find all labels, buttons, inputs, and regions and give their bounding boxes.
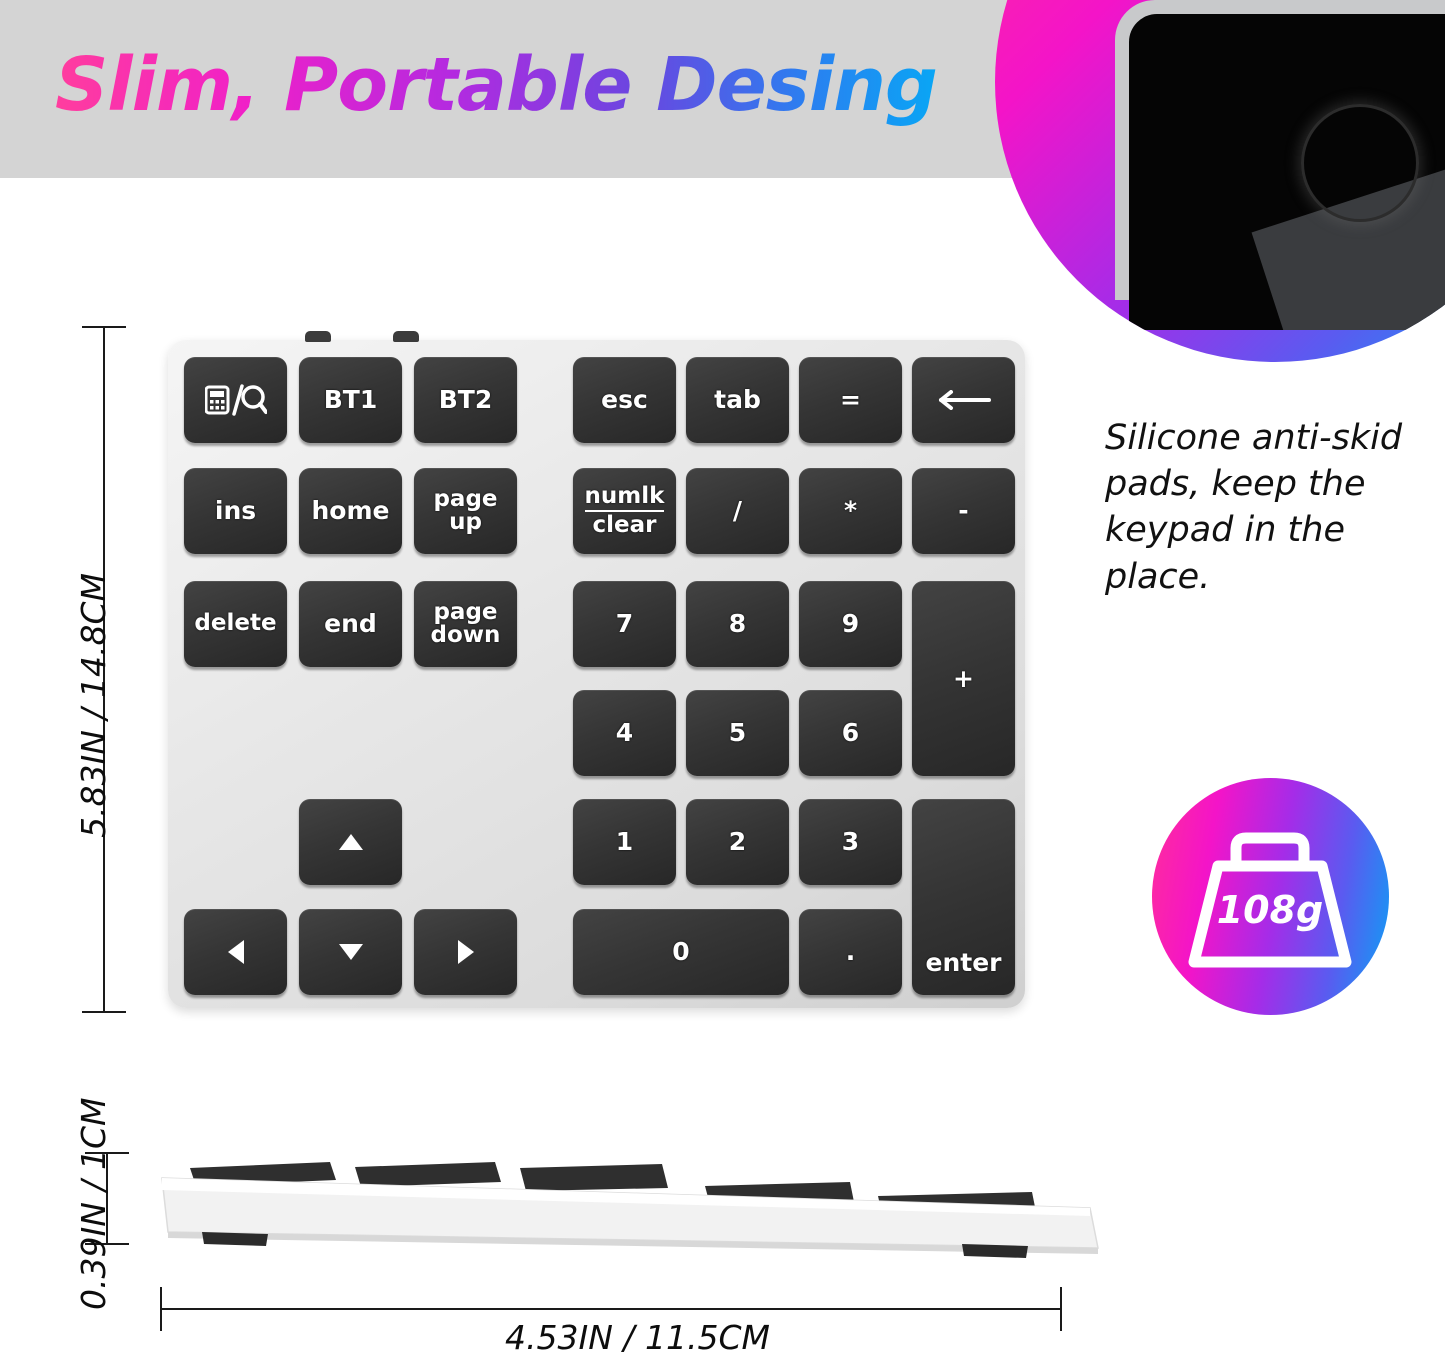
- key-tab[interactable]: tab: [686, 357, 789, 443]
- key-bt2[interactable]: BT2: [414, 357, 517, 443]
- key-calculator-search[interactable]: [184, 357, 287, 443]
- thickness-dimension-label: 0.39IN / 1CM: [74, 1097, 113, 1310]
- key-decimal[interactable]: .: [799, 909, 902, 995]
- key-arrow-down[interactable]: [299, 909, 402, 995]
- key-2[interactable]: 2: [686, 799, 789, 885]
- key-3[interactable]: 3: [799, 799, 902, 885]
- key-page-up[interactable]: pageup: [414, 468, 517, 554]
- key-arrow-right[interactable]: [414, 909, 517, 995]
- key-enter[interactable]: enter: [912, 799, 1015, 995]
- key-backspace[interactable]: [912, 357, 1015, 443]
- key-9[interactable]: 9: [799, 581, 902, 667]
- weight-value: 108g: [1180, 888, 1360, 932]
- weight-badge: 108g: [1152, 778, 1389, 1015]
- key-page-up-label: pageup: [433, 488, 497, 535]
- key-8[interactable]: 8: [686, 581, 789, 667]
- clear-text: clear: [585, 512, 665, 537]
- height-dimension-label: 5.83IN / 14.8CM: [74, 573, 113, 838]
- key-plus[interactable]: +: [912, 581, 1015, 776]
- key-7[interactable]: 7: [573, 581, 676, 667]
- page-title: Slim, Portable Desing: [55, 42, 937, 128]
- weight-icon: 108g: [1180, 826, 1360, 971]
- key-equals[interactable]: =: [799, 357, 902, 443]
- backspace-arrow-icon: [937, 390, 991, 410]
- key-esc[interactable]: esc: [573, 357, 676, 443]
- keypad-top-view: BT1 BT2 ins home pageup delete end paged…: [168, 340, 1025, 1008]
- arrow-up-icon: [339, 834, 363, 850]
- key-multiply[interactable]: *: [799, 468, 902, 554]
- key-end[interactable]: end: [299, 581, 402, 667]
- key-delete[interactable]: delete: [184, 581, 287, 667]
- led-indicator-1-icon: [305, 331, 331, 342]
- arrow-right-icon: [458, 940, 474, 964]
- home-button-icon: [1301, 104, 1419, 222]
- led-indicator-2-icon: [393, 331, 419, 342]
- height-dimension-cap-bottom: [82, 1011, 126, 1013]
- key-home[interactable]: home: [299, 468, 402, 554]
- key-numlock-clear-label: numlk clear: [585, 485, 665, 537]
- key-1[interactable]: 1: [573, 799, 676, 885]
- arrow-left-icon: [228, 940, 244, 964]
- phone-bezel: [1115, 0, 1445, 300]
- phone-photo-circle: [995, 0, 1445, 362]
- width-dimension-label: 4.53IN / 11.5CM: [505, 1318, 770, 1357]
- width-dimension-cap-right: [1060, 1287, 1062, 1331]
- anti-skid-description: Silicone anti-skid pads, keep the keypad…: [1105, 415, 1435, 600]
- phone-screen: [1129, 14, 1445, 330]
- key-numlock-clear[interactable]: numlk clear: [573, 468, 676, 554]
- key-minus[interactable]: -: [912, 468, 1015, 554]
- arrow-down-icon: [339, 944, 363, 960]
- key-6[interactable]: 6: [799, 690, 902, 776]
- key-5[interactable]: 5: [686, 690, 789, 776]
- key-divide[interactable]: /: [686, 468, 789, 554]
- key-page-down[interactable]: pagedown: [414, 581, 517, 667]
- calculator-search-icon: [205, 383, 267, 417]
- key-arrow-up[interactable]: [299, 799, 402, 885]
- anti-skid-pad-left: [202, 1232, 268, 1246]
- key-0[interactable]: 0: [573, 909, 789, 995]
- key-ins[interactable]: ins: [184, 468, 287, 554]
- width-dimension-line: [160, 1308, 1062, 1310]
- key-bt1[interactable]: BT1: [299, 357, 402, 443]
- anti-skid-pad-right: [962, 1244, 1028, 1258]
- numlk-text: numlk: [585, 485, 665, 511]
- keypad-side-view: [150, 1140, 1110, 1270]
- key-page-down-label: pagedown: [431, 601, 501, 648]
- key-4[interactable]: 4: [573, 690, 676, 776]
- key-arrow-left[interactable]: [184, 909, 287, 995]
